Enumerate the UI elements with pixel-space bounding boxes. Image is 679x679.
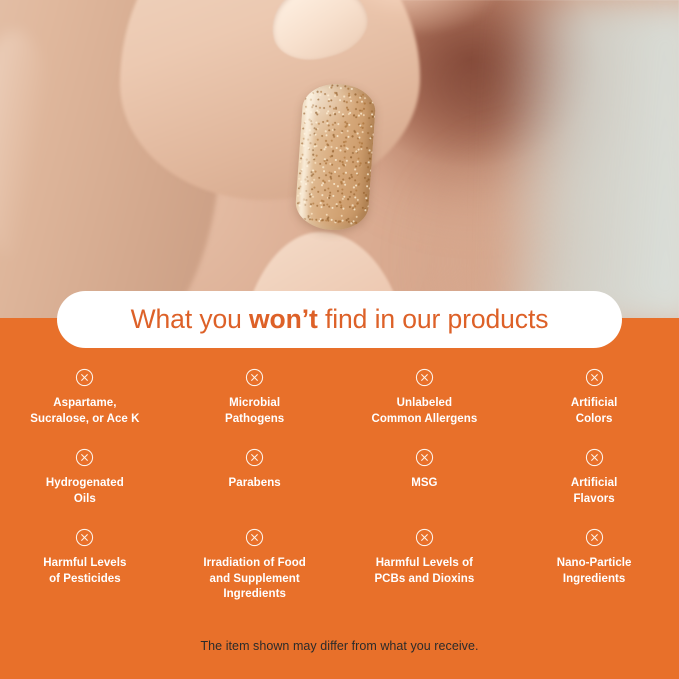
circle-x-icon [75,368,94,387]
exclusion-row: Hydrogenated Oils Parabens MSG Artificia… [0,448,679,528]
exclusion-item: Harmful Levels of PCBs and Dioxins [340,528,510,618]
exclusion-item-label: Aspartame, Sucralose, or Ace K [30,396,139,427]
exclusion-item-label: Artificial Flavors [571,476,618,507]
exclusion-item-label: MSG [411,476,437,492]
headline-part-2: find in our products [318,304,549,334]
exclusion-item-label: Hydrogenated Oils [46,476,124,507]
exclusion-row: Harmful Levels of Pesticides Irradiation… [0,528,679,618]
headline-pill: What you won’t find in our products [57,291,622,348]
circle-x-icon [415,368,434,387]
exclusion-item-label: Unlabeled Common Allergens [371,396,477,427]
exclusion-item: Harmful Levels of Pesticides [0,528,170,618]
exclusion-item-label: Harmful Levels of Pesticides [43,556,126,587]
exclusion-item: Parabens [170,448,340,528]
product-photo [0,0,679,320]
exclusion-item: Unlabeled Common Allergens [340,368,510,448]
supplement-tablet [294,82,377,233]
exclusion-item-label: Irradiation of Food and Supplement Ingre… [203,556,306,603]
circle-x-icon [585,528,604,547]
headline-emphasis: won’t [249,304,318,334]
product-info-graphic: What you won’t find in our products Aspa… [0,0,679,679]
exclusion-item-label: Harmful Levels of PCBs and Dioxins [374,556,474,587]
circle-x-icon [75,528,94,547]
exclusion-item-label: Artificial Colors [571,396,618,427]
photo-bokeh-blob-edge [505,0,679,320]
circle-x-icon [585,448,604,467]
exclusion-item: MSG [340,448,510,528]
disclaimer-text: The item shown may differ from what you … [0,639,679,653]
exclusion-item: Artificial Flavors [509,448,679,528]
exclusion-item-label: Microbial Pathogens [225,396,284,427]
circle-x-icon [245,528,264,547]
circle-x-icon [585,368,604,387]
exclusion-item-label: Parabens [229,476,281,492]
exclusion-item: Hydrogenated Oils [0,448,170,528]
circle-x-icon [415,528,434,547]
circle-x-icon [245,368,264,387]
circle-x-icon [75,448,94,467]
headline-part-1: What you [131,304,249,334]
exclusion-item: Artificial Colors [509,368,679,448]
exclusion-row: Aspartame, Sucralose, or Ace K Microbial… [0,368,679,448]
exclusion-grid: Aspartame, Sucralose, or Ace K Microbial… [0,368,679,618]
exclusion-item: Aspartame, Sucralose, or Ace K [0,368,170,448]
circle-x-icon [415,448,434,467]
exclusion-item-label: Nano-Particle Ingredients [557,556,632,587]
exclusion-item: Irradiation of Food and Supplement Ingre… [170,528,340,618]
exclusion-item: Microbial Pathogens [170,368,340,448]
exclusion-item: Nano-Particle Ingredients [509,528,679,618]
circle-x-icon [245,448,264,467]
headline-text: What you won’t find in our products [131,304,549,335]
